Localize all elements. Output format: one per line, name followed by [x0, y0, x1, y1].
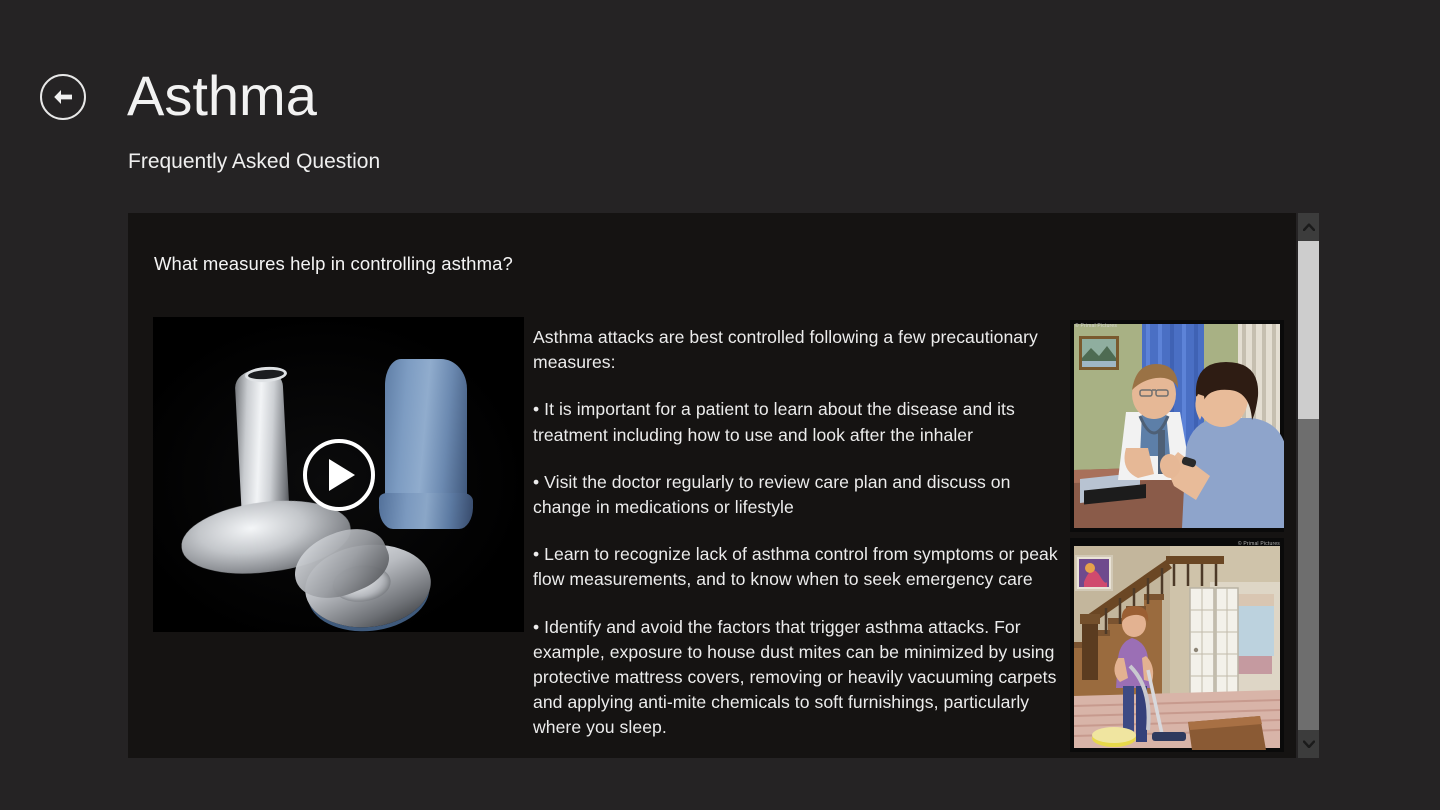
page-header: Asthma Frequently Asked Question	[0, 0, 1440, 200]
doctor-consultation-image	[1070, 320, 1284, 532]
chevron-down-icon	[1303, 740, 1315, 748]
content-scrollbar[interactable]	[1298, 213, 1319, 758]
scrollbar-thumb[interactable]	[1298, 241, 1319, 419]
answer-body: Asthma attacks are best controlled follo…	[533, 325, 1058, 758]
illustration-credit: © Primal Pictures	[1075, 323, 1117, 329]
answer-bullet: • Visit the doctor regularly to review c…	[533, 470, 1058, 520]
illustration-vacuuming-hallway[interactable]: © Primal Pictures	[1070, 538, 1284, 752]
play-triangle	[329, 459, 355, 491]
play-icon[interactable]	[303, 439, 375, 511]
answer-bullet: • It is important for a patient to learn…	[533, 397, 1058, 447]
question-text: What measures help in controlling asthma…	[154, 251, 513, 277]
answer-bullet: • Identify and avoid the factors that tr…	[533, 615, 1058, 741]
illustration-doctor-consultation[interactable]: © Primal Pictures	[1070, 320, 1284, 532]
answer-bullet: • Learn to recognize lack of asthma cont…	[533, 542, 1058, 592]
answer-paragraph: Asthma attacks are best controlled follo…	[533, 325, 1058, 375]
blue-inhaler-body-shape	[385, 359, 467, 509]
illustration-credit: © Primal Pictures	[1238, 541, 1280, 547]
content-panel: What measures help in controlling asthma…	[128, 213, 1296, 758]
chevron-up-icon	[1303, 223, 1315, 231]
vacuuming-hallway-image	[1070, 538, 1284, 752]
scrollbar-track[interactable]	[1298, 241, 1319, 730]
video-thumbnail[interactable]	[153, 317, 524, 632]
back-arrow-icon	[51, 87, 75, 107]
page-title: Asthma	[127, 63, 317, 129]
scroll-up-button[interactable]	[1298, 213, 1319, 241]
scroll-down-button[interactable]	[1298, 730, 1319, 758]
blue-inhaler-base-shape	[379, 493, 473, 529]
app-root: Asthma Frequently Asked Question What me…	[0, 0, 1440, 810]
page-subtitle: Frequently Asked Question	[128, 148, 380, 176]
back-button[interactable]	[40, 74, 86, 120]
scrollbar-track-remainder[interactable]	[1298, 419, 1319, 730]
